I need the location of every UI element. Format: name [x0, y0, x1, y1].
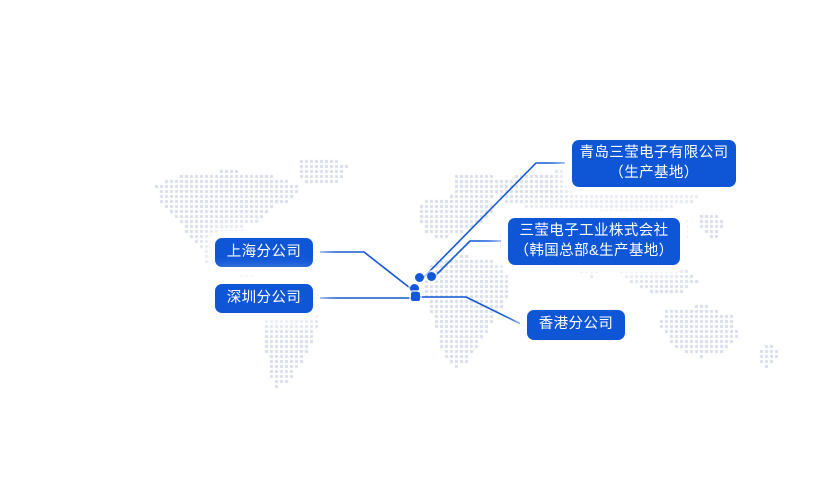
location-label-line-2: （生产基地）: [609, 164, 698, 183]
location-label-line-1: 香港分公司: [539, 315, 614, 334]
location-label-line-1: 青岛三莹电子有限公司: [580, 144, 729, 163]
location-label-line-1: 三莹电子工业株式会社: [520, 222, 669, 241]
location-label-hongkong[interactable]: 香港分公司: [527, 310, 625, 340]
world-map-background: [0, 0, 824, 480]
location-label-line-1: 上海分公司: [227, 243, 302, 262]
location-label-line-2: （韩国总部&生产基地）: [514, 242, 673, 261]
location-label-line-1: 深圳分公司: [227, 289, 302, 308]
location-label-korea-hq[interactable]: 三莹电子工业株式会社 （韩国总部&生产基地）: [508, 218, 680, 265]
map-marker-qingdao[interactable]: [415, 273, 424, 282]
location-label-qingdao[interactable]: 青岛三莹电子有限公司 （生产基地）: [572, 140, 736, 187]
map-marker-shenzhen[interactable]: [411, 292, 420, 301]
location-label-shanghai[interactable]: 上海分公司: [215, 238, 313, 267]
world-map-dots: [0, 0, 824, 480]
world-map-figure: 青岛三莹电子有限公司 （生产基地） 三莹电子工业株式会社 （韩国总部&生产基地）…: [0, 0, 824, 480]
location-label-shenzhen[interactable]: 深圳分公司: [215, 284, 313, 313]
map-marker-korea-hq[interactable]: [427, 272, 436, 281]
